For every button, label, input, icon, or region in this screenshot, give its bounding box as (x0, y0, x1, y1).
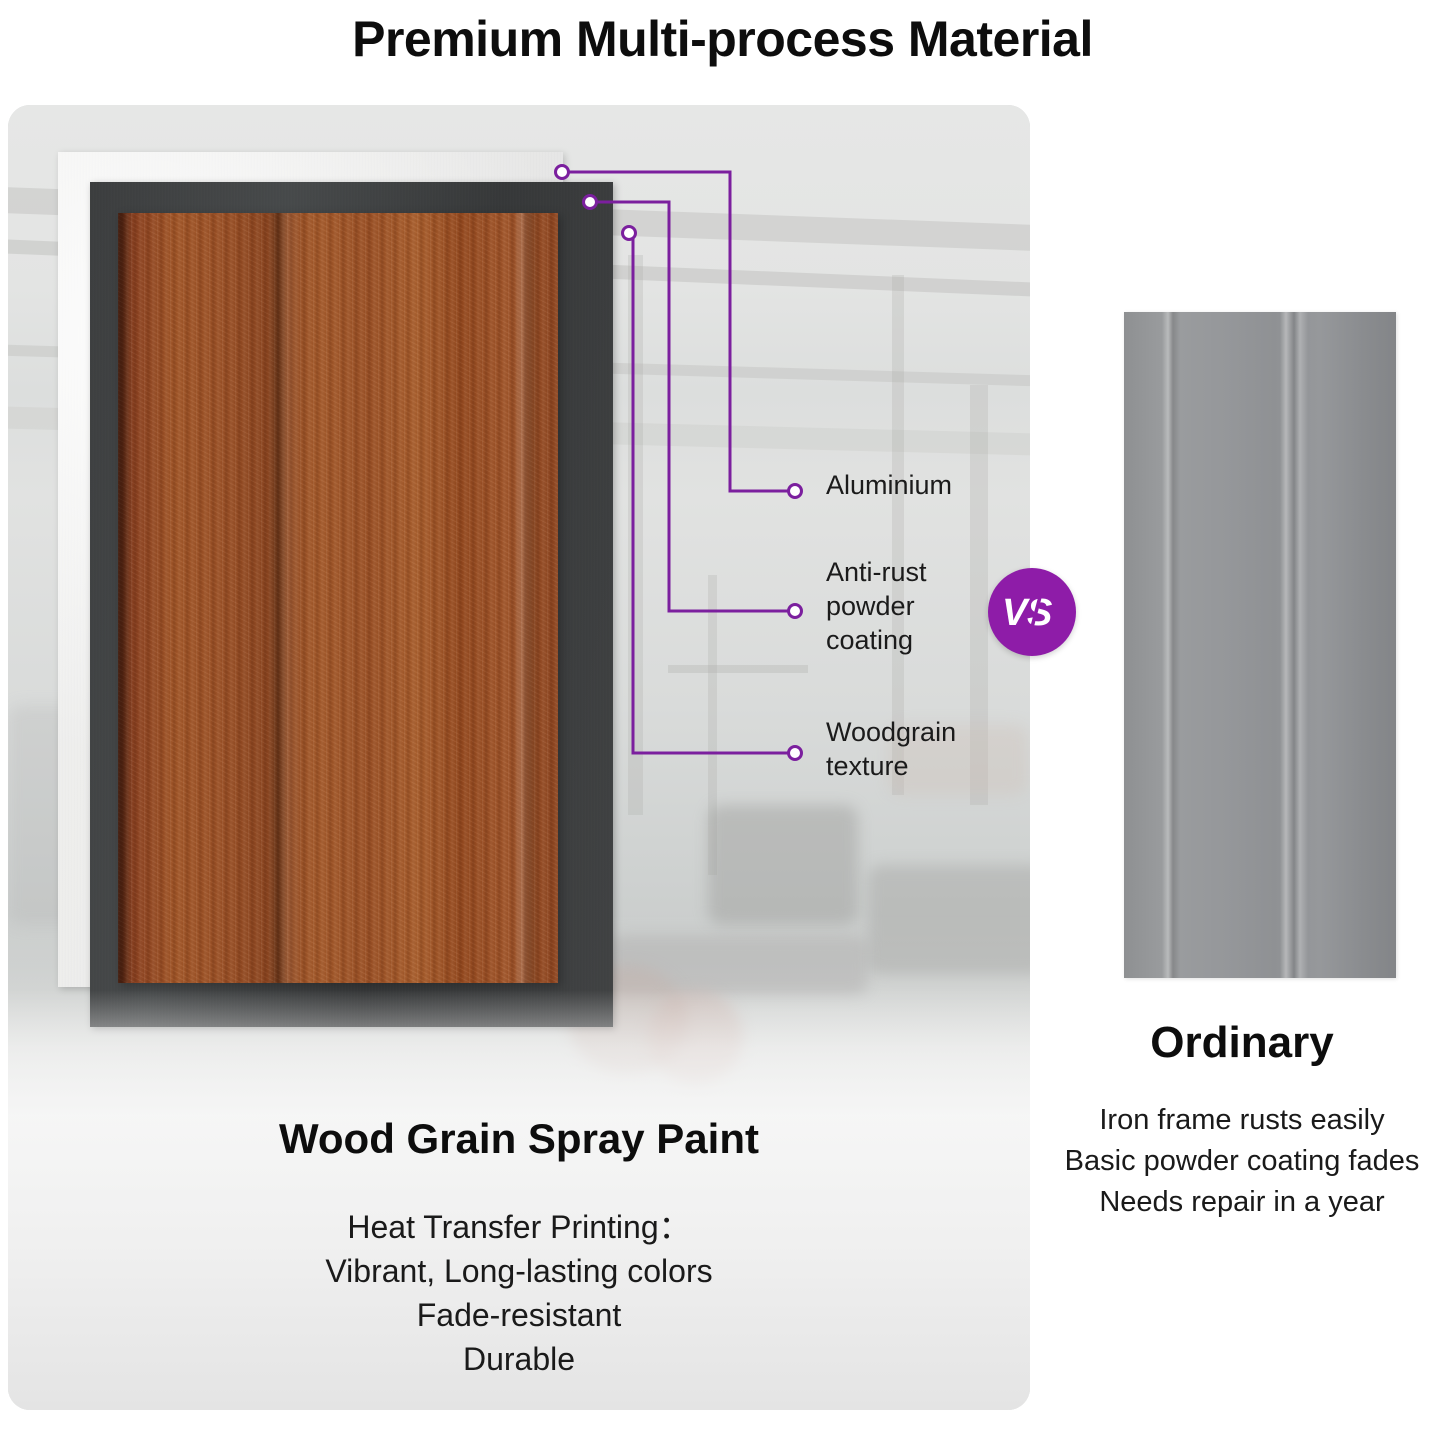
premium-feature-item: Fade-resistant (8, 1293, 1030, 1337)
premium-feature-list: Heat Transfer Printing： Vibrant, Long-la… (8, 1205, 1030, 1381)
page-title: Premium Multi-process Material (0, 0, 1445, 78)
ordinary-drawback-item: Needs repair in a year (1042, 1182, 1442, 1223)
premium-title: Wood Grain Spray Paint (8, 1115, 1030, 1163)
vs-badge: V S (988, 568, 1076, 656)
machinery-silhouette (868, 865, 1030, 975)
callout-label-aluminium: Aluminium (826, 468, 952, 502)
ordinary-drawback-item: Iron frame rusts easily (1042, 1100, 1442, 1141)
ordinary-drawback-item: Basic powder coating fades (1042, 1141, 1442, 1182)
callout-label-woodgrain-texture: Woodgrain texture (826, 715, 956, 783)
ordinary-frame-panel (1124, 312, 1396, 978)
workshop-column (668, 665, 808, 673)
machinery-silhouette (708, 805, 858, 925)
premium-feature-item: Durable (8, 1337, 1030, 1381)
woodgrain-texture-layer (118, 213, 558, 983)
premium-product-card: Aluminium Anti-rust powder coating Woodg… (8, 105, 1030, 1410)
ordinary-drawback-list: Iron frame rusts easily Basic powder coa… (1042, 1100, 1442, 1223)
workshop-column (628, 255, 643, 815)
ordinary-title: Ordinary (1042, 1018, 1442, 1068)
svg-text:V: V (1002, 592, 1030, 634)
premium-feature-item: Vibrant, Long-lasting colors (8, 1249, 1030, 1293)
vs-icon: V S (1002, 590, 1062, 634)
premium-feature-item: Heat Transfer Printing： (8, 1205, 1030, 1249)
callout-label-anti-rust-powder-coating: Anti-rust powder coating (826, 555, 927, 657)
